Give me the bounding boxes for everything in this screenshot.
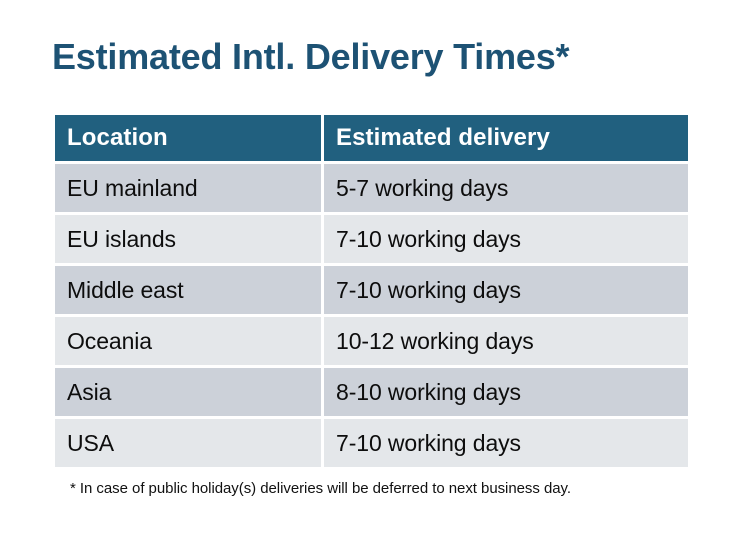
table-header-row: Location Estimated delivery [55, 115, 688, 161]
page-title: Estimated Intl. Delivery Times* [52, 36, 569, 77]
column-header-location: Location [55, 115, 321, 161]
cell-location: Oceania [55, 317, 321, 365]
delivery-times-page: Estimated Intl. Delivery Times* Location… [0, 0, 745, 536]
cell-estimate: 8-10 working days [324, 368, 688, 416]
cell-location: Asia [55, 368, 321, 416]
delivery-times-table: Location Estimated delivery EU mainland … [52, 112, 691, 470]
cell-estimate: 7-10 working days [324, 266, 688, 314]
cell-estimate: 7-10 working days [324, 215, 688, 263]
cell-location: EU islands [55, 215, 321, 263]
table-row: EU islands 7-10 working days [55, 215, 688, 263]
cell-estimate: 5-7 working days [324, 164, 688, 212]
table-row: Oceania 10-12 working days [55, 317, 688, 365]
table-row: USA 7-10 working days [55, 419, 688, 467]
table-row: Middle east 7-10 working days [55, 266, 688, 314]
cell-estimate: 7-10 working days [324, 419, 688, 467]
table-header: Location Estimated delivery [55, 115, 688, 161]
table-row: EU mainland 5-7 working days [55, 164, 688, 212]
table-row: Asia 8-10 working days [55, 368, 688, 416]
table-footnote: * In case of public holiday(s) deliverie… [70, 480, 571, 497]
column-header-estimated-delivery: Estimated delivery [324, 115, 688, 161]
cell-location: Middle east [55, 266, 321, 314]
table-body: EU mainland 5-7 working days EU islands … [55, 164, 688, 467]
cell-location: USA [55, 419, 321, 467]
cell-estimate: 10-12 working days [324, 317, 688, 365]
cell-location: EU mainland [55, 164, 321, 212]
